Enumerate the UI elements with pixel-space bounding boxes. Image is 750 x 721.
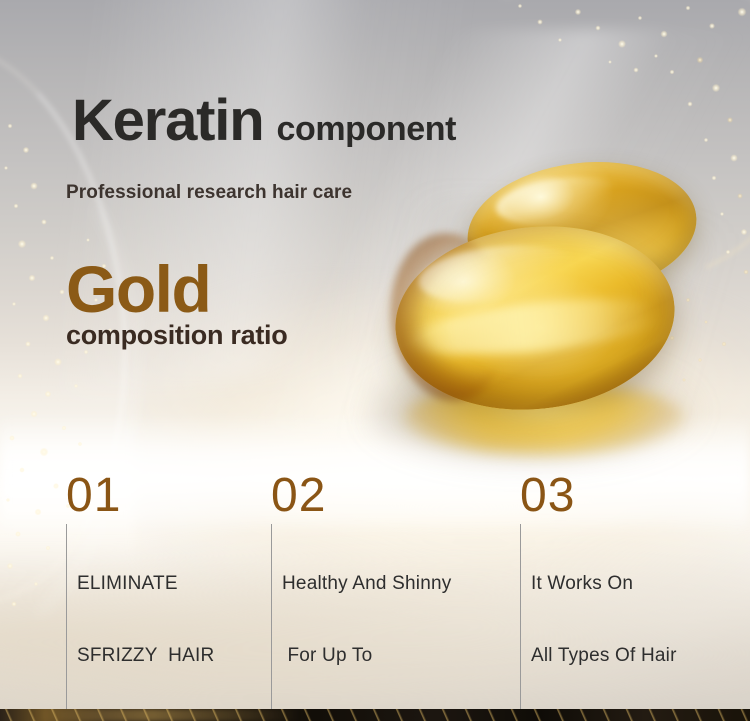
bottom-accent-strip [0,709,750,721]
feature-divider-rule [66,524,67,716]
feature-item: 02 Healthy And Shinny For Up To Three Mo… [271,474,506,721]
headline: Keratin component [72,92,456,150]
feature-text-line: Healthy And Shinny [282,572,451,596]
product-banner: Keratin component Professional research … [0,0,750,721]
feature-body: Healthy And Shinny For Up To Three Month… [271,524,506,721]
feature-number: 02 [271,474,506,518]
bottom-strip-glow [30,709,300,721]
headline-main: Keratin [72,92,263,150]
feature-text-line: ELIMINATE [77,572,214,596]
feature-text-line: SFRIZZY HAIR [77,644,214,668]
feature-item: 03 It Works On All Types Of Hair [520,474,750,716]
feature-body: ELIMINATE SFRIZZY HAIR [66,524,301,716]
feature-text-line: It Works On [531,572,677,596]
gold-heading: Gold [66,256,210,322]
gold-subtitle: composition ratio [66,322,287,349]
tagline: Professional research hair care [66,182,352,204]
feature-item: 01 ELIMINATE SFRIZZY HAIR [66,474,301,716]
feature-divider-rule [520,524,521,716]
feature-text: ELIMINATE SFRIZZY HAIR [77,524,214,716]
feature-text-line: All Types Of Hair [531,644,677,668]
product-capsules-image [395,155,725,455]
feature-number: 01 [66,474,301,518]
feature-text: Healthy And Shinny For Up To Three Month… [282,524,451,721]
feature-number: 03 [520,474,750,518]
feature-text-line: For Up To [282,644,451,668]
feature-body: It Works On All Types Of Hair [520,524,750,716]
feature-list: 01 ELIMINATE SFRIZZY HAIR 02 Healthy And… [0,474,750,634]
feature-divider-rule [271,524,272,721]
feature-text: It Works On All Types Of Hair [531,524,677,716]
headline-sub: component [276,112,456,146]
